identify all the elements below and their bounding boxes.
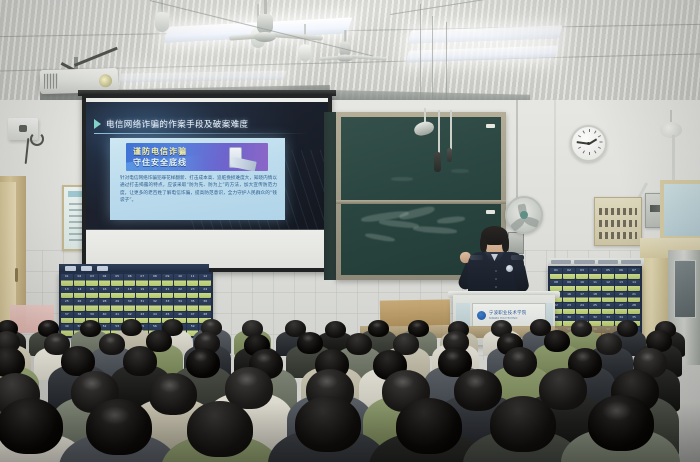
wall-seam — [554, 100, 556, 260]
hanging-microphone — [434, 152, 441, 172]
phone-pocket[interactable]: 04 — [589, 268, 601, 279]
distribution-board[interactable] — [594, 197, 642, 246]
student-head — [99, 333, 125, 355]
student-head — [121, 319, 142, 336]
student-head — [295, 396, 361, 452]
slide-content: 电信网络诈骗的作案手段及破案难度 谨防电信诈骗 守住安全底线 针对电信网络诈骗犯… — [86, 102, 328, 230]
banner-line-1: 谨防电信诈骗 — [133, 146, 187, 157]
door-handle[interactable] — [15, 268, 18, 282]
phone-pocket[interactable]: 13 — [615, 280, 627, 291]
phone-pocket[interactable]: 08 — [550, 280, 562, 291]
phone-pocket[interactable]: 02 — [74, 274, 86, 286]
phone-pocket[interactable]: 12 — [602, 280, 614, 291]
student-head — [123, 346, 157, 376]
phone-pocket[interactable]: 24 — [199, 287, 211, 299]
phone-pocket[interactable]: 10 — [576, 280, 588, 291]
student-head — [454, 369, 502, 411]
door-window — [674, 260, 696, 318]
left-door[interactable] — [0, 182, 16, 322]
phone-pocket[interactable]: 12 — [199, 274, 211, 286]
phone-pocket[interactable]: 15 — [86, 287, 98, 299]
phone-pocket[interactable]: 20 — [149, 287, 161, 299]
officer-hair — [480, 236, 487, 252]
phone-pocket[interactable]: 09 — [563, 280, 575, 291]
student-audience — [0, 318, 700, 462]
slide-title-row: 电信网络诈骗的作案手段及破案难度 — [94, 116, 320, 132]
phone-pocket[interactable]: 31 — [136, 299, 148, 311]
student-head — [588, 395, 654, 451]
phone-pocket[interactable]: 26 — [602, 303, 614, 314]
phone-pocket[interactable]: 09 — [162, 274, 174, 286]
phone-pocket[interactable]: 11 — [589, 280, 601, 291]
phone-pocket[interactable]: 22 — [174, 287, 186, 299]
student-head — [503, 347, 537, 377]
banner-line-2: 守住安全底线 — [133, 157, 187, 168]
phone-pocket[interactable]: 18 — [589, 292, 601, 303]
phone-pocket[interactable]: 07 — [628, 268, 640, 279]
phone-pocket[interactable]: 28 — [628, 303, 640, 314]
student-head — [571, 320, 592, 337]
student-head — [544, 330, 570, 352]
phone-pocket[interactable]: 32 — [149, 299, 161, 311]
phone-pocket[interactable]: 35 — [187, 299, 199, 311]
phone-pocket[interactable]: 05 — [602, 268, 614, 279]
phone-pocket[interactable]: 13 — [61, 287, 73, 299]
phone-pocket[interactable]: 21 — [162, 287, 174, 299]
phone-pocket[interactable]: 17 — [576, 292, 588, 303]
podium-name-cn: 宁波职业技术学院 — [489, 310, 527, 316]
phone-pocket[interactable]: 16 — [99, 287, 111, 299]
student-head — [368, 320, 389, 337]
student-head — [149, 373, 197, 415]
phone-pocket[interactable]: 24 — [576, 303, 588, 314]
hanging-microphone — [447, 148, 452, 162]
slide-title-underline — [94, 133, 309, 134]
uniform-epaulette — [511, 255, 524, 260]
phone-pocket[interactable]: 14 — [74, 287, 86, 299]
uniform-epaulette — [470, 255, 483, 260]
student-head — [490, 396, 556, 452]
slide-banner: 谨防电信诈骗 守住安全底线 — [126, 143, 268, 171]
wall-clock — [570, 125, 607, 162]
phone-pocket[interactable]: 16 — [563, 292, 575, 303]
phone-pocket[interactable]: 27 — [615, 303, 627, 314]
student-head — [617, 320, 638, 337]
phone-pocket[interactable]: 18 — [124, 287, 136, 299]
projector-vent — [44, 74, 58, 89]
student-head — [187, 401, 253, 457]
phone-pocket[interactable]: 14 — [628, 280, 640, 291]
phone-pocket[interactable]: 29 — [111, 299, 123, 311]
student-head — [396, 398, 462, 454]
phone-pocket[interactable]: 36 — [199, 299, 211, 311]
blackboard-rail — [336, 200, 506, 204]
uniform-badge — [506, 265, 513, 272]
student-head — [0, 398, 63, 454]
phone-pocket[interactable]: 17 — [111, 287, 123, 299]
phone-pocket[interactable]: 25 — [589, 303, 601, 314]
phone-pocket[interactable]: 30 — [124, 299, 136, 311]
phone-pocket[interactable]: 27 — [86, 299, 98, 311]
phone-pocket[interactable]: 10 — [174, 274, 186, 286]
phone-pocket[interactable]: 26 — [74, 299, 86, 311]
phone-pocket[interactable]: 07 — [136, 274, 148, 286]
projector-lens — [99, 74, 112, 87]
phone-pocket[interactable]: 25 — [61, 299, 73, 311]
phone-pocket[interactable]: 19 — [602, 292, 614, 303]
phone-pocket[interactable]: 33 — [162, 299, 174, 311]
student-head — [297, 332, 323, 354]
wall-cord-loop — [30, 132, 44, 146]
student-head — [80, 320, 101, 337]
officer-hair — [502, 236, 509, 252]
slide-card: 谨防电信诈骗 守住安全底线 针对电信网络诈骗犯罪花样翻新、打击成本高、追赃挽损难… — [110, 138, 285, 220]
student-head — [596, 333, 622, 355]
phone-pocket[interactable]: 34 — [174, 299, 186, 311]
phone-pocket[interactable]: 05 — [111, 274, 123, 286]
phone-pocket[interactable]: 01 — [550, 268, 562, 279]
ceiling-cable — [432, 16, 433, 102]
phone-pocket[interactable]: 01 — [61, 274, 73, 286]
phone-pocket[interactable]: 06 — [615, 268, 627, 279]
student-head — [86, 399, 152, 455]
blackboard-clip — [486, 124, 495, 128]
framed-wall-board — [660, 180, 700, 240]
microphone-wire — [438, 110, 440, 158]
triangle-bullet-icon — [94, 119, 101, 129]
phone-pocket[interactable]: 28 — [99, 299, 111, 311]
slide-body-text: 针对电信网络诈骗犯罪花样翻新、打击成本高、追赃挽损难度大，知晓内情以通过打击揭露… — [120, 175, 277, 205]
classroom-lecture-photo: 电信网络诈骗的作案手段及破案难度 谨防电信诈骗 守住安全底线 针对电信网络诈骗犯… — [0, 0, 700, 462]
phone-pocket[interactable]: 23 — [187, 287, 199, 299]
phone-pocket[interactable]: 02 — [563, 268, 575, 279]
blackboard-clip — [486, 210, 495, 214]
student-head — [346, 333, 372, 355]
phone-pocket[interactable]: 23 — [563, 303, 575, 314]
student-head — [325, 321, 346, 338]
phone-pocket[interactable]: 03 — [576, 268, 588, 279]
student-head — [186, 348, 220, 378]
hand-icon — [229, 156, 257, 171]
phone-pocket[interactable]: 03 — [86, 274, 98, 286]
phone-pocket[interactable]: 11 — [187, 274, 199, 286]
slide-heading: 电信网络诈骗的作案手段及破案难度 — [106, 118, 248, 130]
phone-pocket[interactable]: 20 — [615, 292, 627, 303]
phone-pocket[interactable]: 06 — [124, 274, 136, 286]
phone-pocket[interactable]: 19 — [136, 287, 148, 299]
projection-screen: 电信网络诈骗的作案手段及破案难度 谨防电信诈骗 守住安全底线 针对电信网络诈骗犯… — [86, 98, 328, 268]
phone-pocket[interactable]: 21 — [628, 292, 640, 303]
ceiling-cable — [420, 4, 421, 100]
ceiling-cable — [446, 22, 447, 102]
phone-pocket[interactable]: 08 — [149, 274, 161, 286]
phone-pocket[interactable]: 04 — [99, 274, 111, 286]
smoke-detector-icon — [660, 122, 682, 138]
phone-board-right-header — [548, 258, 644, 266]
screen-blank-area — [86, 230, 328, 268]
